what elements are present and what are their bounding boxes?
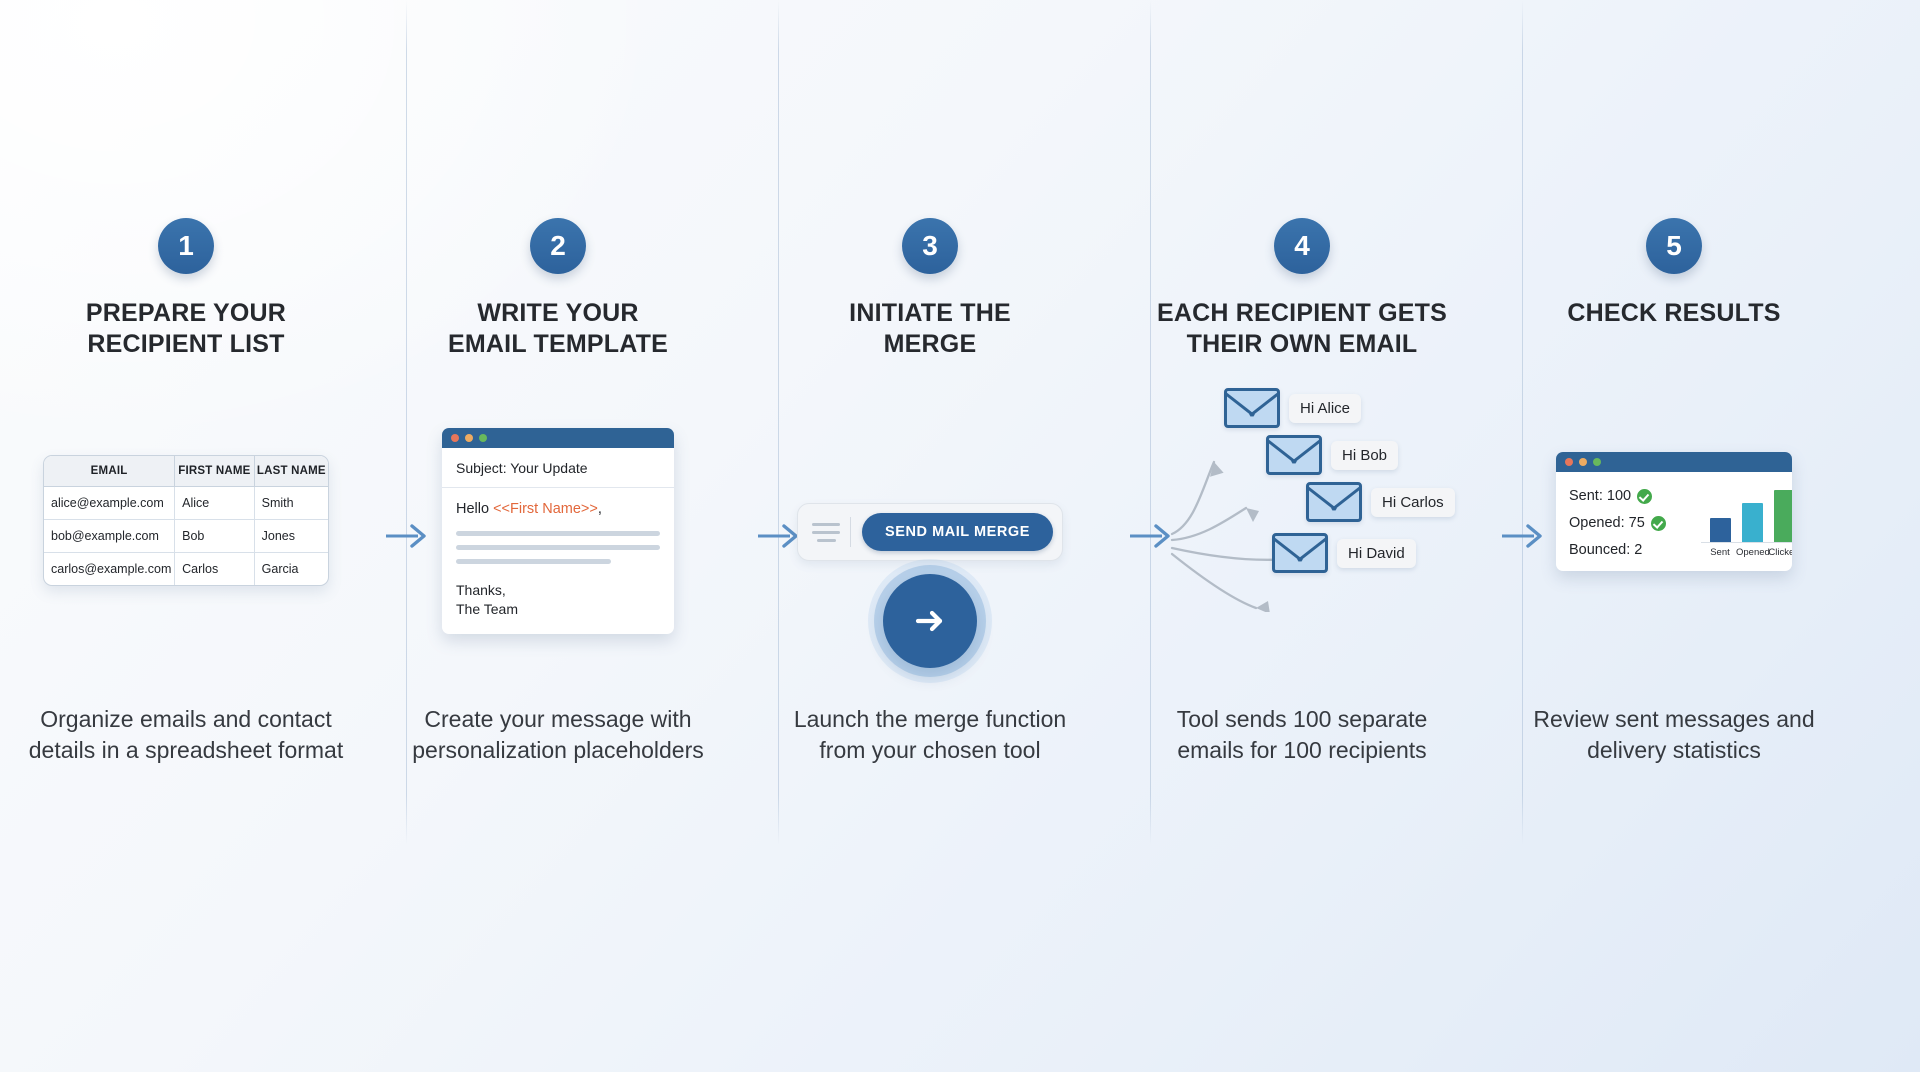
fanout-diagram: Hi Alice Hi Bob Hi Carlos Hi David — [1116, 412, 1488, 612]
maximize-dot-icon[interactable] — [479, 434, 487, 442]
results-window[interactable]: Sent: 100 Opened: 75 Bounced: 2 — [1556, 452, 1792, 571]
step-3-caption: Launch the merge function from your chos… — [744, 704, 1116, 765]
step-3-badge: 3 — [902, 218, 958, 274]
step-3-heading: INITIATE THE MERGE — [744, 298, 1116, 360]
step-4-caption: Tool sends 100 separate emails for 100 r… — [1116, 704, 1488, 765]
table-row: bob@example.com Bob Jones — [44, 520, 328, 553]
minimize-dot-icon[interactable] — [1579, 458, 1587, 466]
delivery-bar-chart: Sent Opened Clicked — [1701, 485, 1792, 558]
envelope-label: Hi Bob — [1331, 441, 1398, 470]
table-header-row: EMAIL FIRST NAME LAST NAME — [44, 456, 328, 487]
envelope-item: Hi Bob — [1266, 435, 1398, 475]
column-header-first-name: FIRST NAME — [175, 456, 255, 487]
cell-last-name: Garcia — [254, 553, 328, 586]
step-4-column: 4 EACH RECIPIENT GETS THEIR OWN EMAIL — [1116, 0, 1488, 1072]
bar-clicked — [1774, 490, 1793, 542]
envelope-icon — [1306, 482, 1362, 522]
infographic-canvas: 1 PREPARE YOUR RECIPIENT LIST EMAIL FIRS… — [0, 0, 1920, 1072]
cell-email: alice@example.com — [44, 487, 175, 520]
check-circle-icon — [1651, 516, 1666, 531]
launch-merge-circle-button[interactable] — [883, 574, 977, 668]
bar-sent — [1710, 518, 1731, 542]
step-2-heading-line1: WRITE YOUR — [372, 298, 744, 329]
step-4-heading-line1: EACH RECIPIENT GETS — [1116, 298, 1488, 329]
step-2-column: 2 WRITE YOUR EMAIL TEMPLATE Subject: You… — [372, 0, 744, 1072]
close-dot-icon[interactable] — [451, 434, 459, 442]
window-title-bar — [442, 428, 674, 448]
envelope-icon — [1266, 435, 1322, 475]
cell-first-name: Alice — [175, 487, 255, 520]
x-tick-opened: Opened — [1736, 547, 1768, 558]
merge-placeholder-token: <<First Name>> — [493, 501, 598, 517]
bar-opened — [1742, 503, 1763, 542]
email-body: Hello <<First Name>>, Thanks, The Team — [442, 488, 674, 634]
cell-first-name: Bob — [175, 520, 255, 553]
step-5-caption: Review sent messages and delivery statis… — [1488, 704, 1860, 765]
step-1-caption: Organize emails and contact details in a… — [0, 704, 372, 765]
step-5-column: 5 CHECK RESULTS Sent: 100 — [1488, 0, 1860, 1072]
step-3-column: 3 INITIATE THE MERGE SEND MAIL MERGE — [744, 0, 1116, 1072]
cell-last-name: Smith — [254, 487, 328, 520]
body-skeleton-line — [456, 531, 660, 536]
step-5-heading-line1: CHECK RESULTS — [1488, 298, 1860, 329]
email-signoff: Thanks, The Team — [456, 581, 660, 618]
envelope-label: Hi Alice — [1289, 394, 1361, 423]
window-title-bar — [1556, 452, 1792, 472]
stat-row-opened: Opened: 75 — [1569, 515, 1679, 531]
email-subject-line: Subject: Your Update — [442, 448, 674, 488]
envelope-label: Hi David — [1337, 539, 1416, 568]
chart-bars — [1701, 485, 1792, 543]
signoff-line1: Thanks, — [456, 581, 660, 600]
greeting-prefix: Hello — [456, 501, 493, 517]
stat-label-bounced: Bounced: 2 — [1569, 542, 1642, 558]
step-1-heading: PREPARE YOUR RECIPIENT LIST — [0, 298, 372, 360]
envelope-icon — [1272, 533, 1328, 573]
toolbar-separator — [850, 517, 851, 547]
table-row: carlos@example.com Carlos Garcia — [44, 553, 328, 586]
minimize-dot-icon[interactable] — [465, 434, 473, 442]
step-1-heading-line2: RECIPIENT LIST — [0, 329, 372, 360]
delivery-stats-list: Sent: 100 Opened: 75 Bounced: 2 — [1569, 485, 1679, 558]
envelope-item: Hi David — [1272, 533, 1416, 573]
close-dot-icon[interactable] — [1565, 458, 1573, 466]
envelope-icon — [1224, 388, 1280, 428]
results-body: Sent: 100 Opened: 75 Bounced: 2 — [1556, 472, 1792, 571]
step-4-heading: EACH RECIPIENT GETS THEIR OWN EMAIL — [1116, 298, 1488, 360]
step-4-badge: 4 — [1274, 218, 1330, 274]
step-2-heading-line2: EMAIL TEMPLATE — [372, 329, 744, 360]
step-3-heading-line1: INITIATE THE — [744, 298, 1116, 329]
cell-email: bob@example.com — [44, 520, 175, 553]
step-1-badge: 1 — [158, 218, 214, 274]
body-skeleton-line — [456, 559, 611, 564]
envelope-label: Hi Carlos — [1371, 488, 1455, 517]
column-header-last-name: LAST NAME — [254, 456, 328, 487]
recipient-table: EMAIL FIRST NAME LAST NAME alice@example… — [44, 456, 328, 585]
arrow-right-icon — [907, 598, 953, 644]
stat-row-sent: Sent: 100 — [1569, 488, 1679, 504]
stat-row-bounced: Bounced: 2 — [1569, 542, 1679, 558]
merge-toolbar: SEND MAIL MERGE — [797, 503, 1063, 561]
envelope-item: Hi Alice — [1224, 388, 1361, 428]
step-3-heading-line2: MERGE — [744, 329, 1116, 360]
step-4-heading-line2: THEIR OWN EMAIL — [1116, 329, 1488, 360]
step-1-heading-line1: PREPARE YOUR — [0, 298, 372, 329]
recipient-spreadsheet[interactable]: EMAIL FIRST NAME LAST NAME alice@example… — [43, 455, 329, 586]
step-2-heading: WRITE YOUR EMAIL TEMPLATE — [372, 298, 744, 360]
greeting-suffix: , — [598, 501, 602, 517]
signoff-line2: The Team — [456, 600, 660, 619]
x-tick-sent: Sent — [1704, 547, 1736, 558]
step-1-column: 1 PREPARE YOUR RECIPIENT LIST EMAIL FIRS… — [0, 0, 372, 1072]
step-5-badge: 5 — [1646, 218, 1702, 274]
menu-lines-icon — [798, 523, 850, 542]
cell-first-name: Carlos — [175, 553, 255, 586]
stat-label-sent: Sent: 100 — [1569, 488, 1631, 504]
chart-x-tick-labels: Sent Opened Clicked — [1701, 543, 1792, 558]
cell-email: carlos@example.com — [44, 553, 175, 586]
stat-label-opened: Opened: 75 — [1569, 515, 1645, 531]
send-mail-merge-button[interactable]: SEND MAIL MERGE — [862, 513, 1053, 551]
envelope-item: Hi Carlos — [1306, 482, 1455, 522]
table-row: alice@example.com Alice Smith — [44, 487, 328, 520]
maximize-dot-icon[interactable] — [1593, 458, 1601, 466]
cell-last-name: Jones — [254, 520, 328, 553]
step-2-caption: Create your message with personalization… — [372, 704, 744, 765]
body-skeleton-line — [456, 545, 660, 550]
step-5-heading: CHECK RESULTS — [1488, 298, 1860, 329]
column-header-email: EMAIL — [44, 456, 175, 487]
email-template-window[interactable]: Subject: Your Update Hello <<First Name>… — [442, 428, 674, 634]
step-2-badge: 2 — [530, 218, 586, 274]
email-greeting: Hello <<First Name>>, — [456, 501, 660, 517]
check-circle-icon — [1637, 489, 1652, 504]
x-tick-clicked: Clicked — [1768, 547, 1792, 558]
